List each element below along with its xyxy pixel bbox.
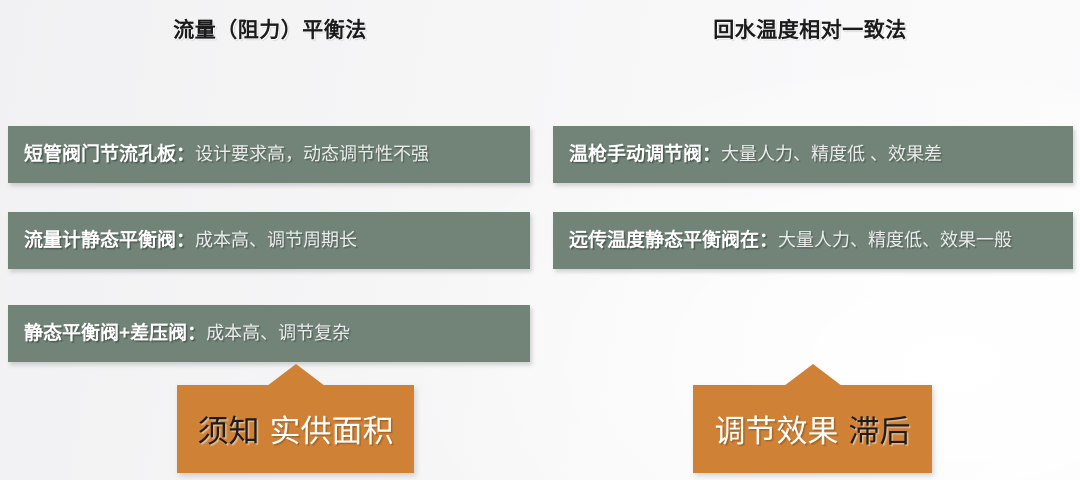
- info-bar: 温枪手动调节阀：大量人力、精度低 、效果差: [553, 126, 1073, 183]
- info-bar: 静态平衡阀+差压阀：成本高、调节复杂: [8, 305, 530, 362]
- info-bar-label: 短管阀门节流孔板：: [24, 144, 195, 165]
- info-bar: 远传温度静态平衡阀在：大量人力、精度低、效果一般: [553, 212, 1073, 269]
- callout-text: 须知实供面积: [198, 416, 394, 447]
- info-bar-text: 温枪手动调节阀：大量人力、精度低 、效果差: [553, 145, 942, 164]
- info-bar-detail: 设计要求高，动态调节性不强: [195, 144, 429, 164]
- info-bar-detail: 大量人力、精度低、效果一般: [778, 230, 1012, 250]
- callout-emphasis: 调节效果: [715, 414, 839, 449]
- callout-pointer-icon: [784, 364, 842, 386]
- info-bar-text: 流量计静态平衡阀：成本高、调节周期长: [8, 231, 357, 250]
- info-bar-label: 流量计静态平衡阀：: [24, 230, 195, 251]
- info-bar-text: 静态平衡阀+差压阀：成本高、调节复杂: [8, 324, 350, 343]
- slide-canvas: 流量（阻力）平衡法 回水温度相对一致法 短管阀门节流孔板：设计要求高，动态调节性…: [0, 0, 1080, 480]
- info-bar-detail: 成本高、调节复杂: [206, 323, 350, 343]
- info-bar-detail: 大量人力、精度低 、效果差: [721, 144, 942, 164]
- callout-pointer-icon: [267, 364, 325, 386]
- info-bar-label: 温枪手动调节阀：: [569, 144, 721, 165]
- callout-rest: 实供面积: [270, 414, 394, 449]
- info-bar-label: 远传温度静态平衡阀在：: [569, 230, 778, 251]
- callout-banner-right: 调节效果滞后: [693, 385, 932, 473]
- info-bar-detail: 成本高、调节周期长: [195, 230, 357, 250]
- callout-rest: 滞后: [849, 414, 911, 449]
- callout-emphasis: 须知: [198, 414, 260, 449]
- info-bar-text: 短管阀门节流孔板：设计要求高，动态调节性不强: [8, 145, 429, 164]
- info-bar-text: 远传温度静态平衡阀在：大量人力、精度低、效果一般: [553, 231, 1012, 250]
- column-title-left: 流量（阻力）平衡法: [0, 14, 540, 44]
- info-bar-label: 静态平衡阀+差压阀：: [24, 323, 206, 344]
- column-title-right: 回水温度相对一致法: [540, 14, 1080, 44]
- info-bar: 短管阀门节流孔板：设计要求高，动态调节性不强: [8, 126, 530, 183]
- callout-text: 调节效果滞后: [715, 416, 911, 447]
- info-bar: 流量计静态平衡阀：成本高、调节周期长: [8, 212, 530, 269]
- callout-banner-left: 须知实供面积: [177, 385, 414, 473]
